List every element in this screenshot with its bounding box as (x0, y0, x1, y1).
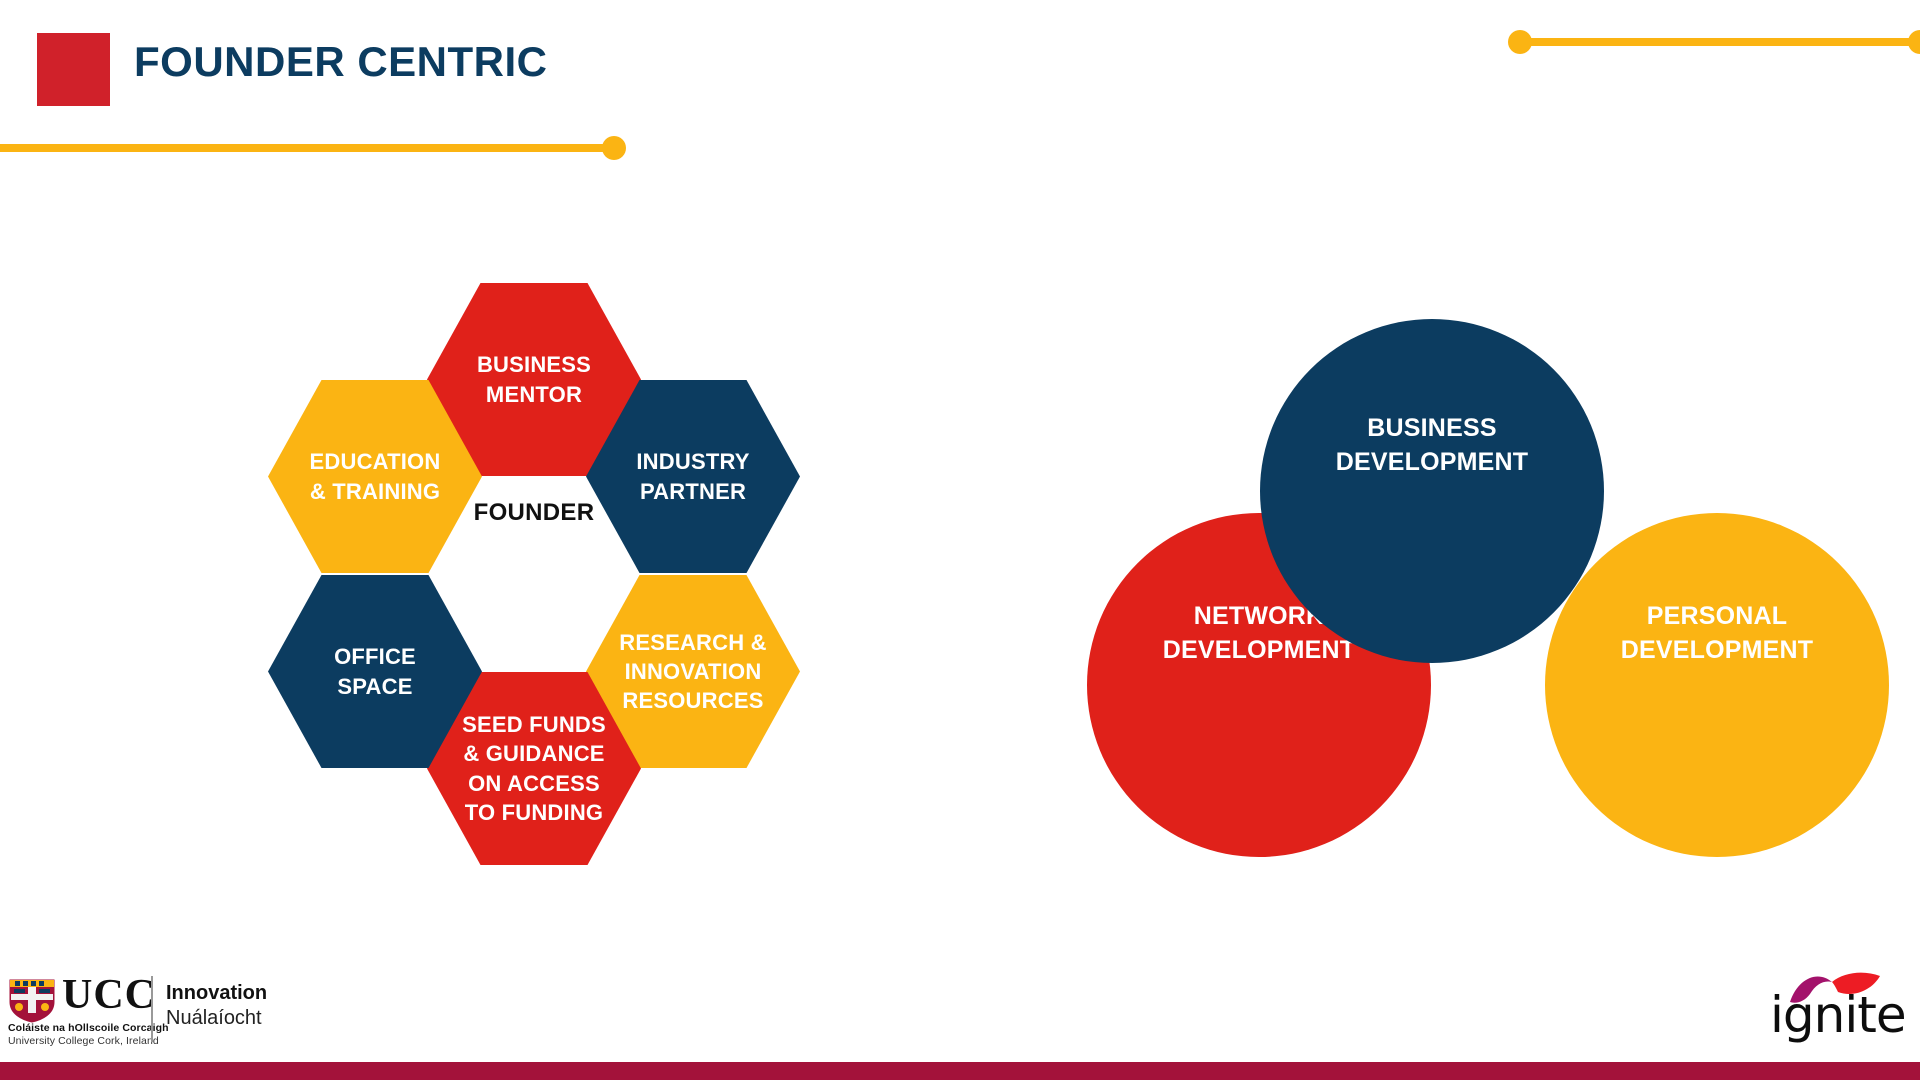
circle-personal-development[interactable]: PERSONALDEVELOPMENT (1545, 513, 1889, 857)
ucc-logo: UCC Coláiste na hOllscoile Corcaigh Univ… (8, 978, 258, 1046)
hexagon-label: OFFICESPACE (334, 642, 416, 700)
hexagon-center-label: FOUNDER (428, 499, 640, 527)
ucc-letters: UCC (62, 974, 156, 1016)
decorative-dot-left-end (602, 136, 626, 160)
ucc-crest-icon (8, 978, 56, 1024)
hexagon-label: INDUSTRYPARTNER (636, 447, 749, 505)
hexagon-label: EDUCATION& TRAINING (310, 447, 441, 505)
development-venn-diagram: NETWORKDEVELOPMENT PERSONALDEVELOPMENT B… (1080, 300, 1810, 870)
circle-label: BUSINESSDEVELOPMENT (1336, 411, 1529, 479)
slide-header: FOUNDER CENTRIC (0, 0, 1920, 200)
ucc-unit-name-ga: Nuálaíocht (166, 1007, 262, 1030)
circle-business-development[interactable]: BUSINESSDEVELOPMENT (1260, 319, 1604, 663)
title-accent-square (37, 33, 110, 106)
hexagon-label: RESEARCH &INNOVATIONRESOURCES (619, 628, 766, 715)
decorative-rule-right (1520, 38, 1920, 46)
ignite-logo: ignite (1770, 972, 1900, 1044)
circle-label: PERSONALDEVELOPMENT (1621, 599, 1814, 667)
hexagon-label: SEED FUNDS& GUIDANCEON ACCESSTO FUNDING (462, 710, 606, 826)
hexagon-label: BUSINESSMENTOR (477, 350, 591, 408)
logo-divider (151, 976, 153, 1042)
decorative-dot-right-start (1508, 30, 1532, 54)
ucc-irish-name: Coláiste na hOllscoile Corcaigh (8, 1022, 169, 1034)
ucc-english-name: University College Cork, Ireland (8, 1035, 159, 1047)
footer-accent-bar (0, 1062, 1920, 1080)
decorative-rule-left (0, 144, 620, 152)
ignite-wordmark: ignite (1770, 990, 1906, 1040)
page-title: FOUNDER CENTRIC (134, 38, 548, 86)
ucc-unit-name-en: Innovation (166, 982, 267, 1005)
founder-hexagon-diagram: BUSINESSMENTOR INDUSTRYPARTNER RESEARCH … (240, 270, 840, 880)
